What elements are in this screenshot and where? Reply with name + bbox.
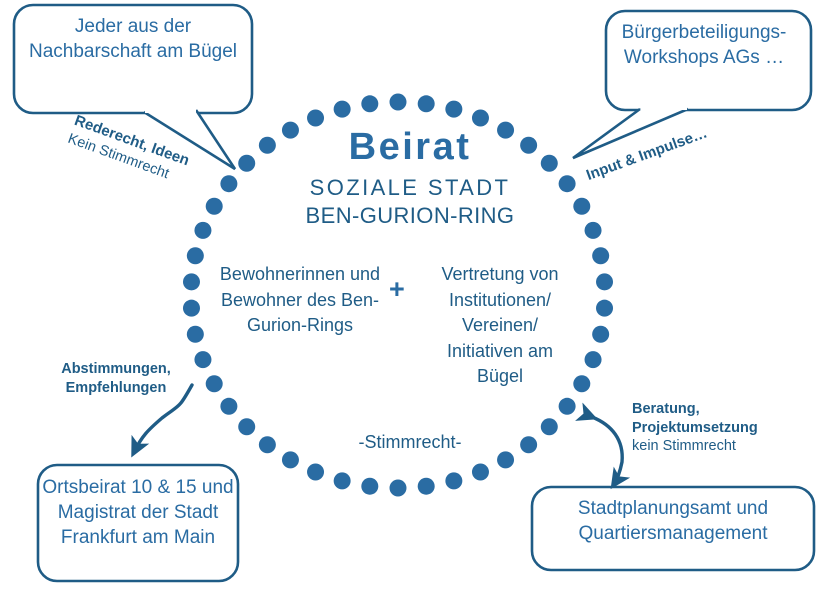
subtitle-ben-gurion-ring: BEN-GURION-RING <box>255 203 565 229</box>
ring-dot <box>520 436 537 453</box>
ring-dot <box>592 247 609 264</box>
ring-dot <box>445 101 462 118</box>
members-institutions-text: Vertretung von Institutionen/ Vereinen/ … <box>425 262 575 390</box>
ring-dot <box>282 451 299 468</box>
label-beratung: Beratung, Projektumsetzung kein Stimmrec… <box>632 400 782 456</box>
ring-dot <box>573 198 590 215</box>
ring-dot <box>596 300 613 317</box>
ring-dot <box>472 464 489 481</box>
ring-dot <box>259 436 276 453</box>
ring-dot <box>183 300 200 317</box>
ring-dot <box>334 472 351 489</box>
ring-dot <box>187 247 204 264</box>
box-bottom-right-text: Stadtplanungsamt und Quartiersmanagement <box>540 496 806 546</box>
label-beratung-line3: kein Stimmrecht <box>632 437 782 456</box>
ring-dot <box>238 155 255 172</box>
voting-rights-note: -Stimmrecht- <box>320 432 500 453</box>
ring-dot <box>194 351 211 368</box>
ring-dot <box>472 109 489 126</box>
ring-dot <box>238 418 255 435</box>
subtitle-soziale-stadt: SOZIALE STADT <box>255 175 565 201</box>
ring-dot <box>361 95 378 112</box>
ring-dot <box>541 418 558 435</box>
ring-dot <box>390 94 407 111</box>
bubble-top-left-text: Jeder aus der Nachbarschaft am Bügel <box>28 14 238 64</box>
ring-dot <box>497 451 514 468</box>
diagram-canvas: Jeder aus der Nachbarschaft am Bügel Bür… <box>0 0 820 600</box>
box-bottom-left-text: Ortsbeirat 10 & 15 und Magistrat der Sta… <box>38 475 238 550</box>
ring-dot <box>573 375 590 392</box>
ring-dot <box>390 480 407 497</box>
plus-icon: + <box>389 276 405 303</box>
ring-dot <box>418 95 435 112</box>
ring-dot <box>194 222 211 239</box>
ring-dot <box>592 326 609 343</box>
label-beratung-line1: Beratung, <box>632 400 782 419</box>
ring-dot <box>206 375 223 392</box>
bubble-top-right-text: Bürgerbeteiligungs- Workshops AGs … <box>604 20 804 70</box>
ring-dot <box>187 326 204 343</box>
ring-dot <box>559 398 576 415</box>
ring-dot <box>585 351 602 368</box>
arrow-stadtplanungsamt <box>592 417 622 484</box>
ring-dot <box>585 222 602 239</box>
ring-dot <box>596 273 613 290</box>
ring-dot <box>418 478 435 495</box>
ring-dot <box>307 109 324 126</box>
ring-dot <box>307 464 324 481</box>
members-residents-text: Bewohnerinnen und Bewohner des Ben-Gurio… <box>205 262 395 339</box>
ring-dot <box>445 472 462 489</box>
ring-dot <box>361 478 378 495</box>
ring-dot <box>220 398 237 415</box>
label-beratung-line2: Projektumsetzung <box>632 419 782 438</box>
page-title: Beirat <box>255 128 565 166</box>
ring-dot <box>206 198 223 215</box>
ring-dot <box>334 101 351 118</box>
ring-dot <box>220 175 237 192</box>
label-abstimmungen: Abstimmungen, Empfehlungen <box>48 360 184 397</box>
ring-dot <box>183 273 200 290</box>
